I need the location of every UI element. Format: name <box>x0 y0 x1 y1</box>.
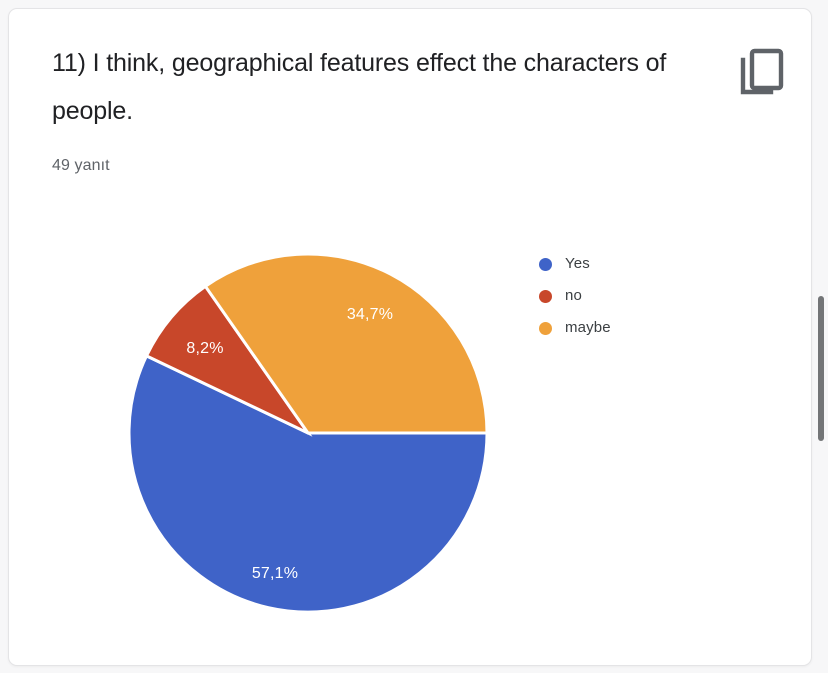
response-count-label: 49 yanıt <box>52 155 110 177</box>
page-title: 11) I think, geographical features effec… <box>52 39 682 135</box>
pie-chart: 34,7% 8,2% 57,1% Yes no maybe <box>9 197 812 637</box>
legend-swatch-yes <box>539 258 552 271</box>
legend-label-maybe: maybe <box>565 317 611 339</box>
legend-item-maybe[interactable]: maybe <box>539 317 611 339</box>
pie-chart-svg: 34,7% 8,2% 57,1% <box>109 222 529 622</box>
vertical-scrollbar-thumb[interactable] <box>818 296 824 441</box>
vertical-scrollbar[interactable] <box>814 0 828 673</box>
legend-label-no: no <box>565 285 582 307</box>
response-card: 11) I think, geographical features effec… <box>8 8 812 666</box>
pie-label-maybe: 34,7% <box>347 306 393 323</box>
pie-label-no: 8,2% <box>186 340 223 357</box>
chart-legend: Yes no maybe <box>539 253 611 339</box>
pie-label-yes: 57,1% <box>252 565 298 582</box>
copy-button[interactable] <box>733 43 791 101</box>
legend-swatch-no <box>539 290 552 303</box>
legend-item-no[interactable]: no <box>539 285 611 307</box>
legend-label-yes: Yes <box>565 253 590 275</box>
legend-item-yes[interactable]: Yes <box>539 253 611 275</box>
legend-swatch-maybe <box>539 322 552 335</box>
copy-icon <box>739 47 785 97</box>
